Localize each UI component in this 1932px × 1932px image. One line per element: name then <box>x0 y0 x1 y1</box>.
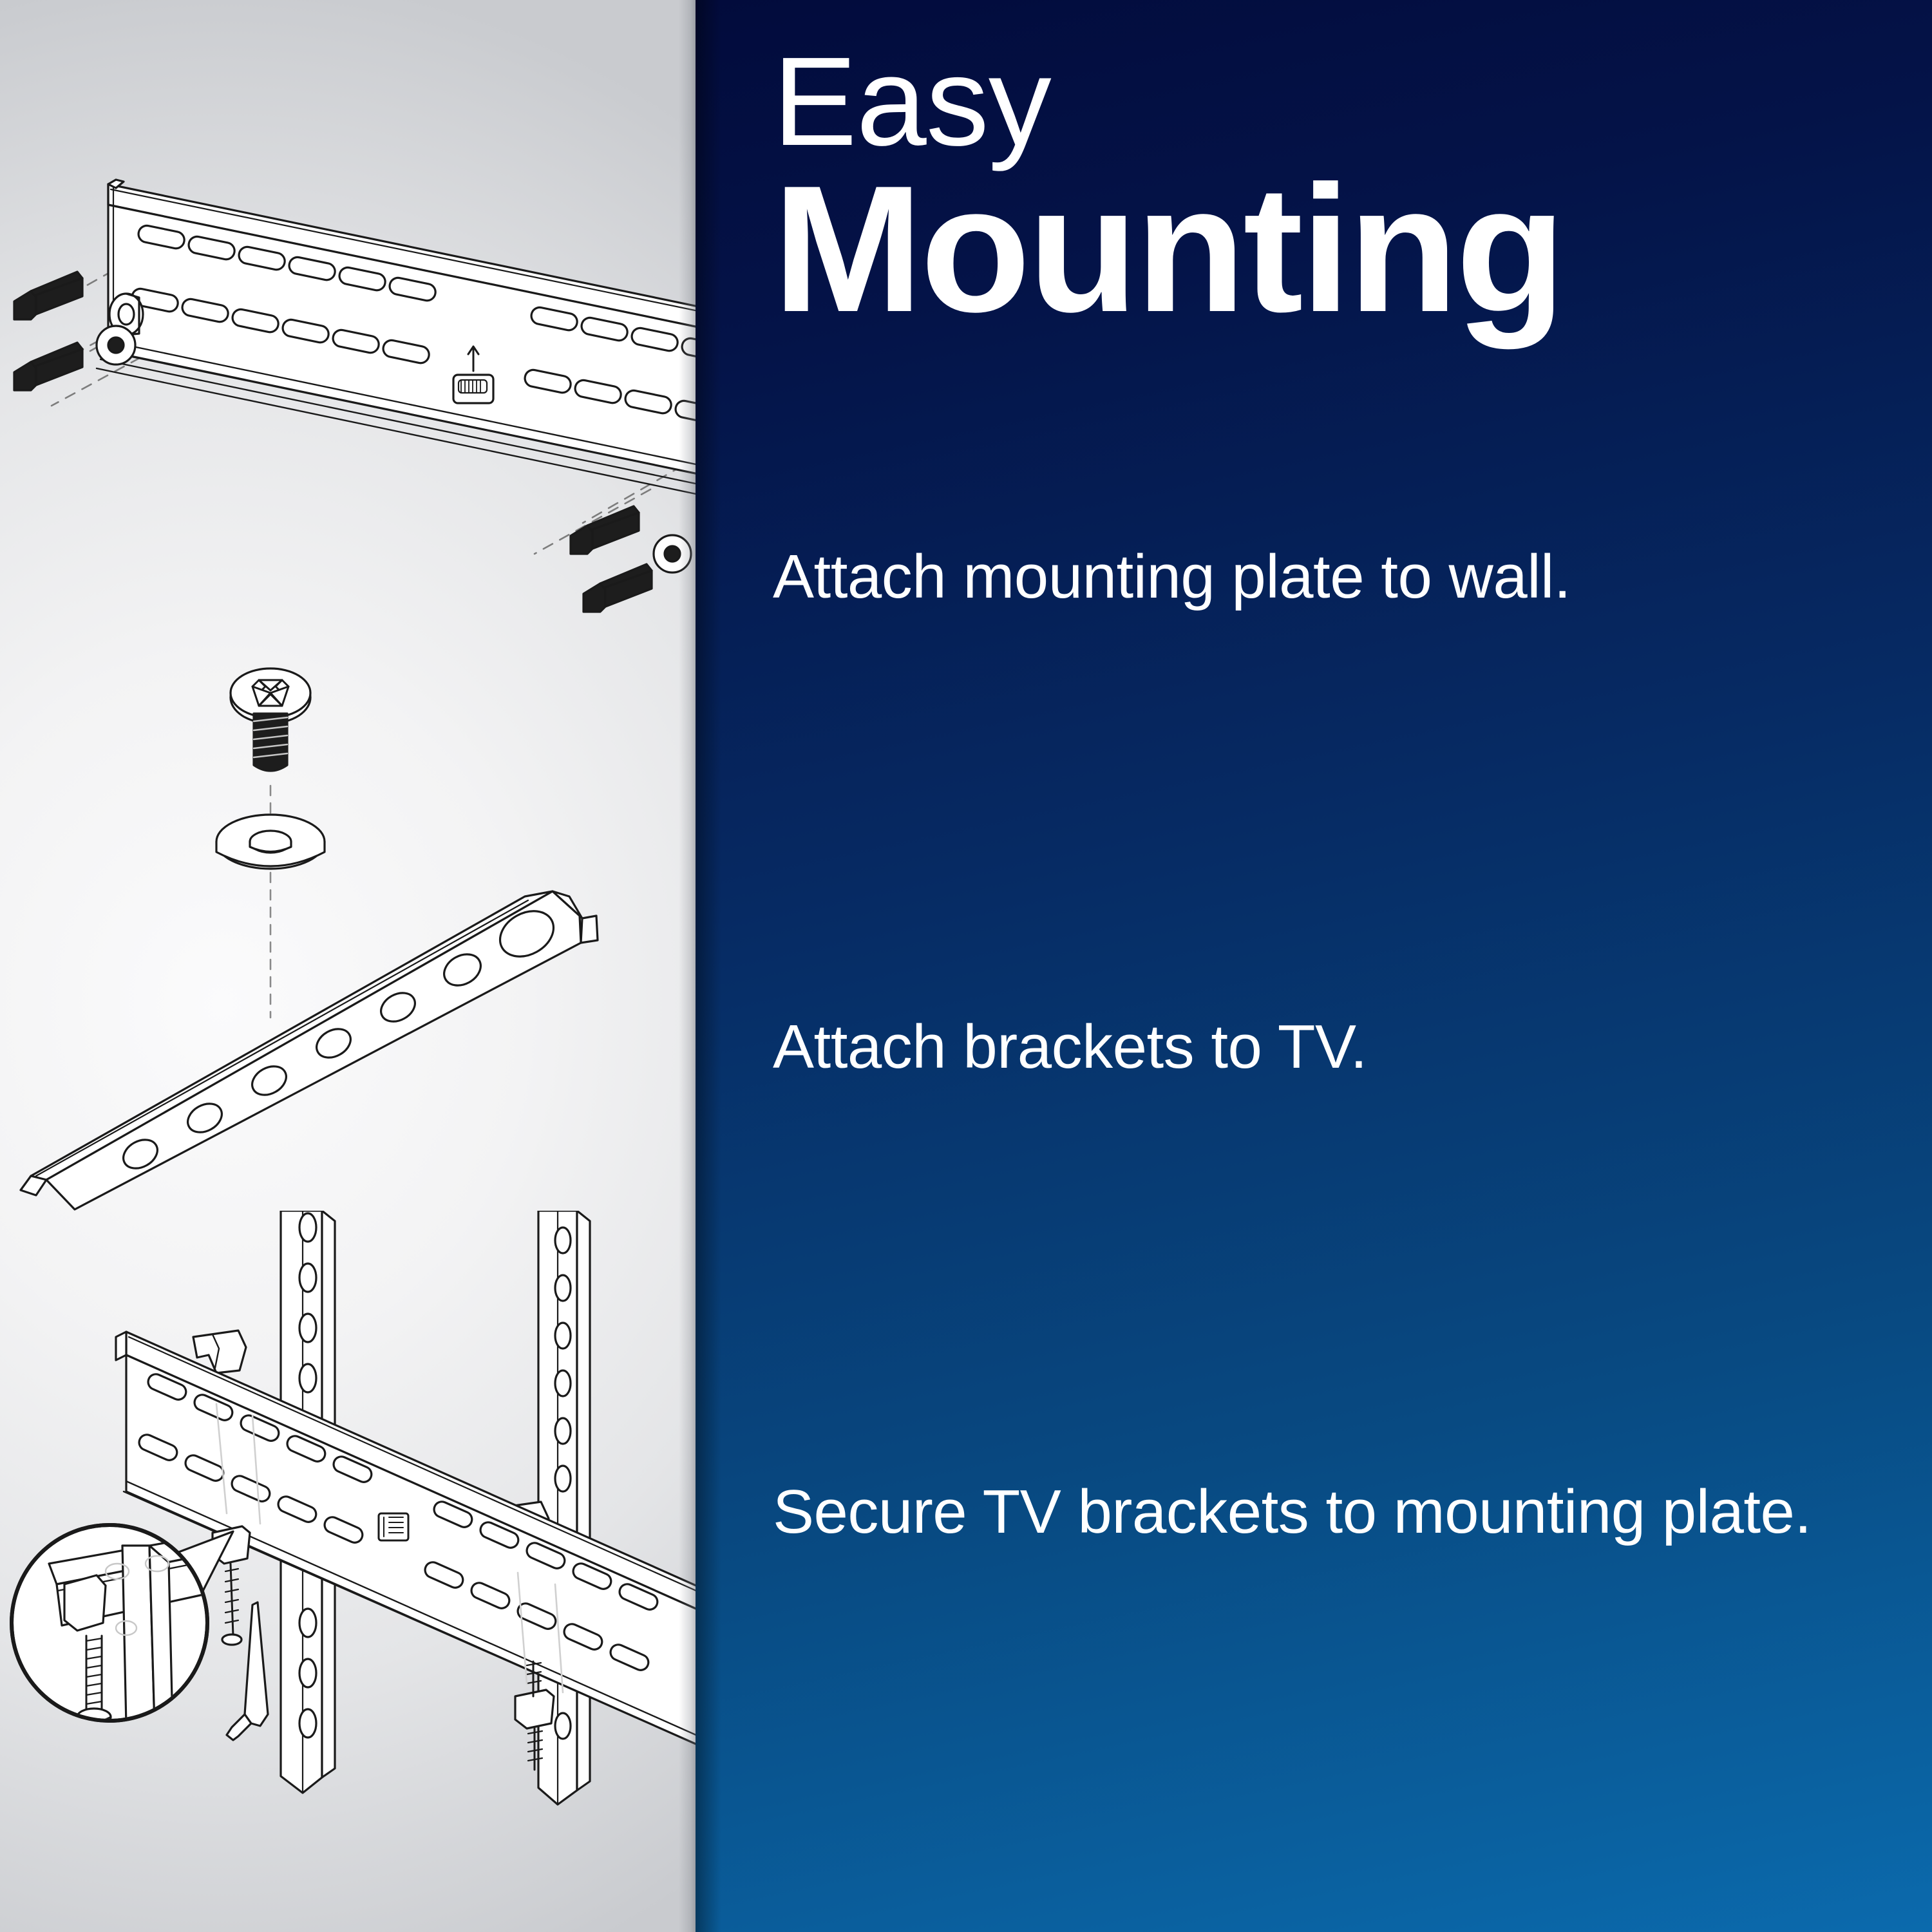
hex-lag-bolt-upper-2 <box>14 343 82 390</box>
center-label-sticker <box>379 1513 408 1540</box>
hex-lag-bolt-lower-2 <box>583 564 652 612</box>
illustration-step-3 <box>0 1211 747 1932</box>
hex-lag-bolt-lower-1 <box>571 506 639 554</box>
phillips-pan-head-screw <box>231 668 310 771</box>
tv-bracket-arm <box>21 891 598 1209</box>
flat-washer-lower <box>654 535 691 573</box>
step-caption-2: Attach brackets to TV. <box>773 1011 1893 1083</box>
headline-line-2: Mounting <box>773 161 1868 337</box>
step-caption-3: Secure TV brackets to mounting plate. <box>773 1476 1893 1548</box>
detail-callout-circle <box>12 1525 207 1726</box>
flat-washer-upper <box>97 326 135 365</box>
text-panel: Easy Mounting Attach mounting plate to w… <box>696 0 1932 1932</box>
step-caption-1: Attach mounting plate to wall. <box>773 541 1893 612</box>
illustration-panel <box>0 0 696 1932</box>
poster-canvas: Easy Mounting Attach mounting plate to w… <box>0 0 1932 1932</box>
illustration-step-1 <box>0 129 773 631</box>
illustration-step-2 <box>13 657 631 1211</box>
flat-washer <box>216 815 325 869</box>
hex-lag-bolt-upper-1 <box>14 272 82 319</box>
page-title: Easy Mounting <box>773 39 1868 337</box>
headline-line-1: Easy <box>773 39 1868 165</box>
